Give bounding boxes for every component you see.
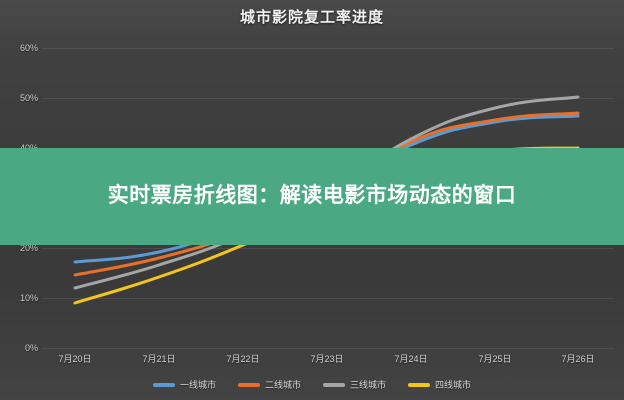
legend-item[interactable]: 二线城市 [238, 378, 301, 391]
legend-item-label: 三线城市 [350, 378, 386, 391]
overlay-banner: 实时票房折线图：解读电影市场动态的窗口 [0, 148, 624, 245]
legend-swatch-icon [323, 383, 345, 387]
legend-item[interactable]: 四线城市 [408, 378, 471, 391]
legend-swatch-icon [408, 383, 430, 387]
legend-item-label: 二线城市 [265, 378, 301, 391]
legend-swatch-icon [238, 383, 260, 387]
legend-item[interactable]: 一线城市 [153, 378, 216, 391]
legend-item[interactable]: 三线城市 [323, 378, 386, 391]
overlay-title: 实时票房折线图：解读电影市场动态的窗口 [108, 182, 517, 210]
chart-legend: 一线城市二线城市三线城市四线城市 [0, 378, 624, 391]
legend-item-label: 一线城市 [180, 378, 216, 391]
legend-item-label: 四线城市 [435, 378, 471, 391]
chart-container: 城市影院复工率进度 0%10%20%30%40%50%60% 7月20日7月21… [0, 0, 624, 400]
legend-swatch-icon [153, 383, 175, 387]
